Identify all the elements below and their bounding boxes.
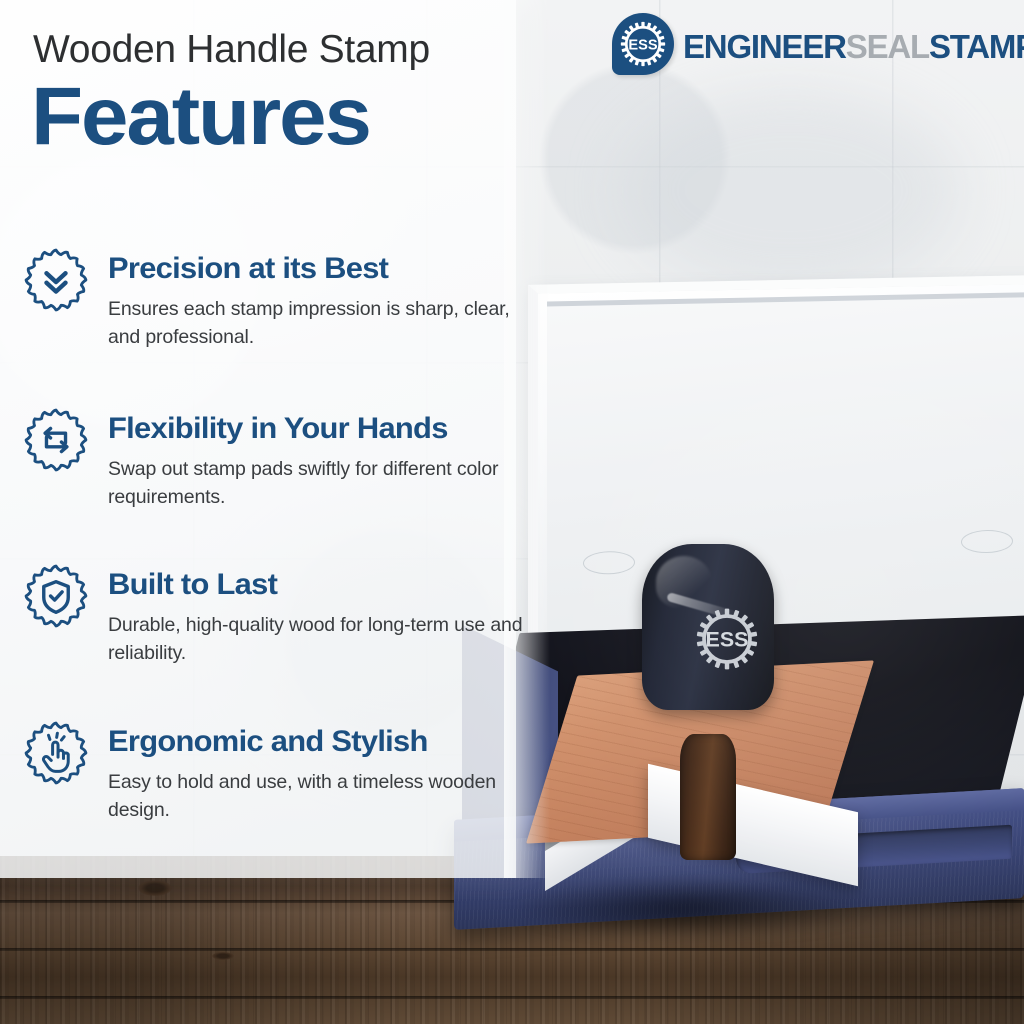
lid-emboss-mark — [961, 530, 1013, 554]
brand-word-engineer: ENGINEER — [683, 30, 846, 63]
feature-description: Durable, high-quality wood for long-term… — [108, 612, 538, 667]
feature-description: Easy to hold and use, with a timeless wo… — [108, 769, 538, 824]
page-title: Features — [31, 76, 370, 158]
ess-badge-icon: ESS — [612, 13, 674, 75]
feature-description: Swap out stamp pads swiftly for differen… — [108, 456, 538, 511]
shield-check-badge-icon — [22, 562, 90, 630]
feature-description: Ensures each stamp impression is sharp, … — [108, 296, 538, 351]
stamp-black-knob: ESS — [642, 544, 774, 710]
wooden-handle-stamp: ESS — [542, 668, 872, 928]
stamp-wood-neck — [680, 734, 736, 860]
feature-title: Built to Last — [108, 567, 277, 603]
box-lid — [528, 275, 1024, 677]
infographic-stage: ESS Wooden Handle Stamp Features ESS ENG… — [0, 0, 1024, 1024]
brand-logo[interactable]: ESS ENGINEERSEALSTAMPS.COM — [612, 13, 1024, 75]
panel-edge-fade — [504, 0, 550, 878]
hand-click-badge-icon — [22, 719, 90, 787]
feature-title: Ergonomic and Stylish — [108, 724, 428, 760]
brand-wordmark: ENGINEERSEALSTAMPS.COM — [683, 25, 1024, 64]
feature-title: Flexibility in Your Hands — [108, 411, 448, 447]
page-subtitle: Wooden Handle Stamp — [33, 28, 430, 72]
knob-logo-text: ESS — [706, 627, 749, 651]
ess-badge-text: ESS — [628, 37, 657, 53]
brand-word-seal: SEAL — [846, 30, 929, 63]
knob-ess-gear-logo: ESS — [690, 602, 764, 681]
lid-emboss-mark — [583, 551, 635, 575]
feature-title: Precision at its Best — [108, 251, 388, 287]
swap-arrows-badge-icon — [22, 406, 90, 474]
brand-word-stamps: STAMPS — [929, 30, 1024, 63]
chevron-double-down-badge-icon — [22, 246, 90, 314]
